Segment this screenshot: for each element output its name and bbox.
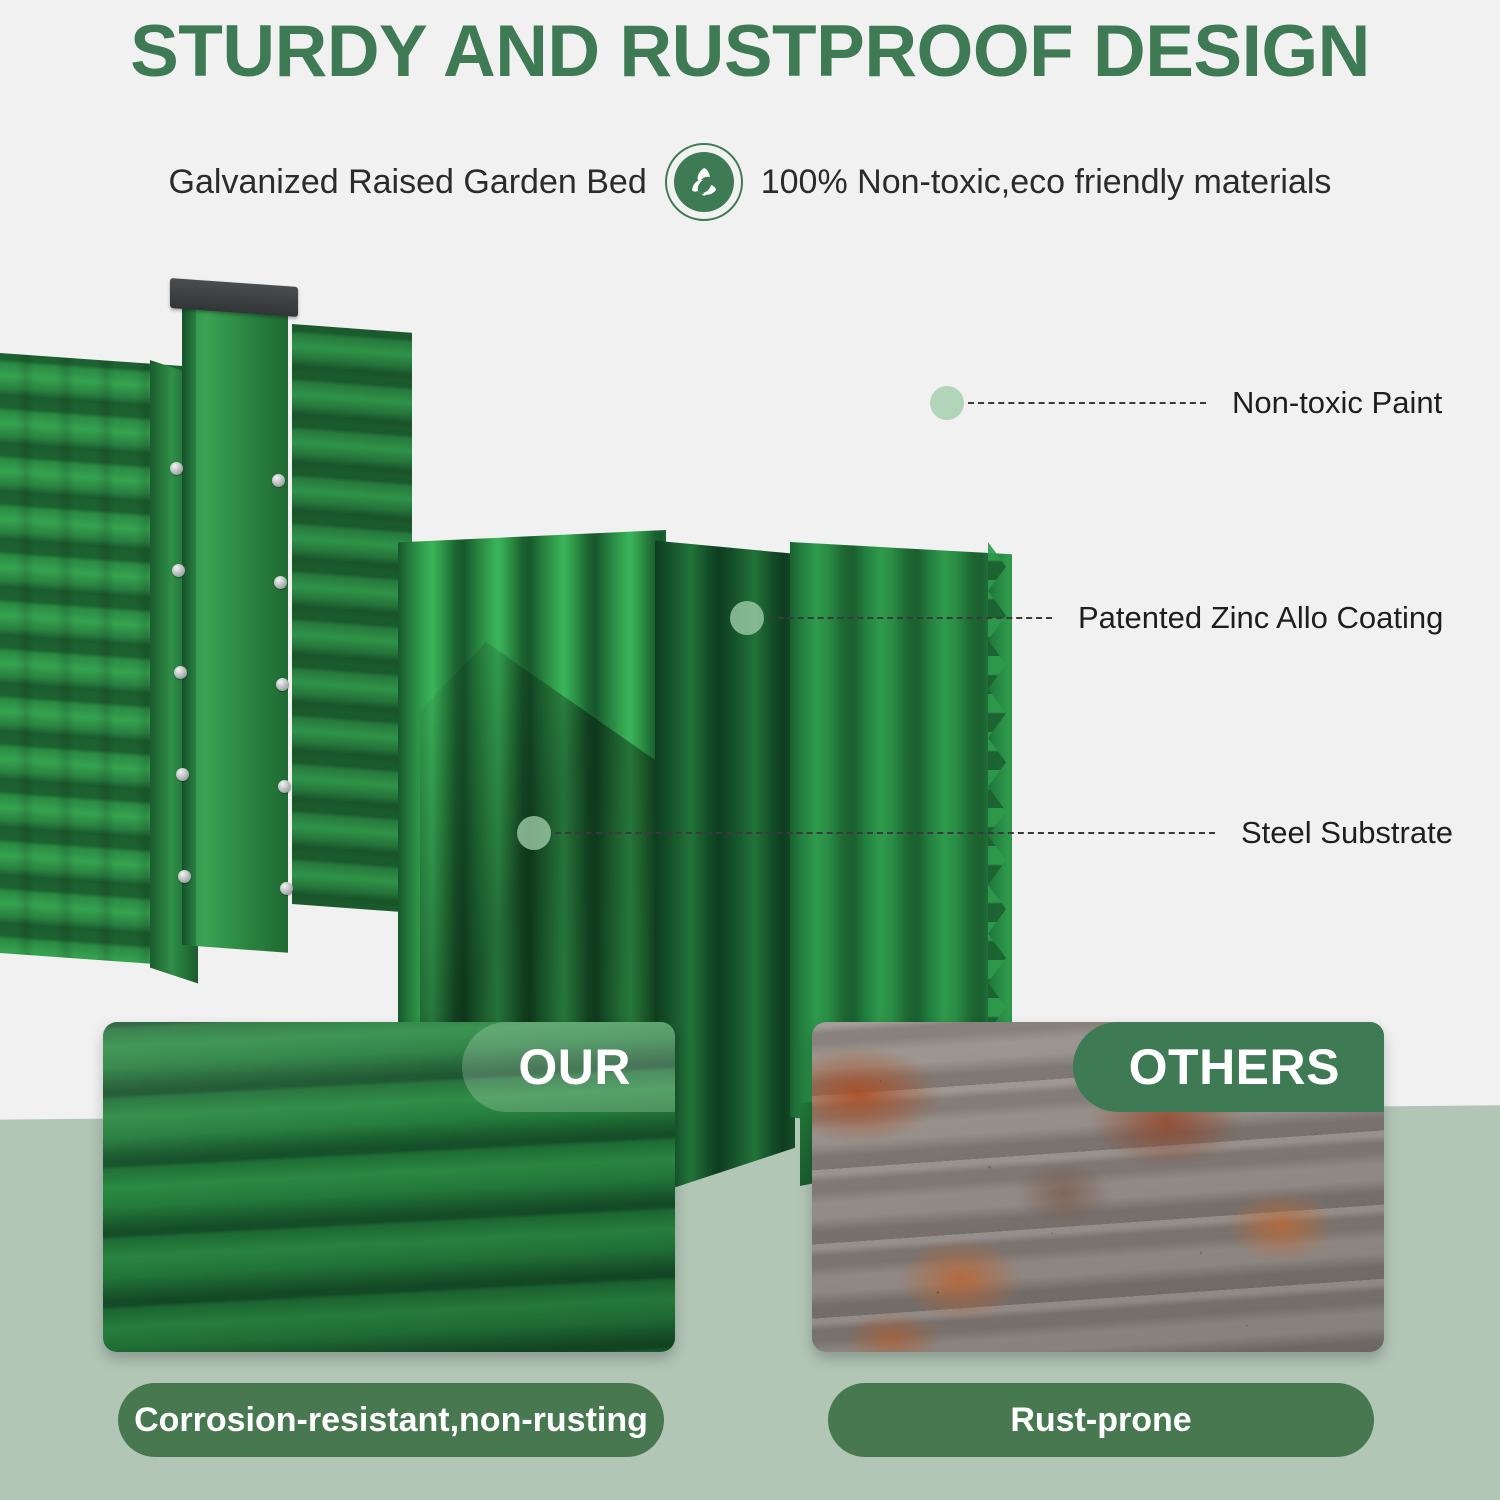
badge-others: OTHERS [1073, 1022, 1384, 1112]
screw [278, 780, 291, 793]
callout-leader-line [555, 832, 1215, 834]
callout-non-toxic-paint: Non-toxic Paint [930, 385, 1442, 421]
garden-bed-corner-post [182, 300, 288, 953]
subtitle-right: 100% Non-toxic,eco friendly materials [761, 159, 1332, 205]
callout-leader-line [768, 617, 1052, 619]
callout-dot-icon [930, 386, 964, 420]
comparison-panel-others: OTHERS [812, 1022, 1384, 1352]
callout-label: Patented Zinc Allo Coating [1078, 600, 1443, 636]
subtitle-left: Galvanized Raised Garden Bed [169, 159, 647, 205]
screw [176, 768, 189, 781]
badge-our: OUR [462, 1022, 675, 1112]
screw [174, 666, 187, 679]
screw [170, 462, 183, 475]
screw [272, 474, 285, 487]
garden-bed-side-panel [292, 324, 412, 913]
comparison-panel-our: OUR [103, 1022, 675, 1352]
callout-zinc-alloy-coating: Patented Zinc Allo Coating [730, 600, 1443, 636]
screw [280, 882, 293, 895]
callout-dot-icon [730, 601, 764, 635]
infographic-canvas: STURDY AND RUSTPROOF DESIGN Galvanized R… [0, 0, 1500, 1500]
callout-leader-line [968, 402, 1206, 404]
garner-bed-corner-post-edge [182, 300, 196, 946]
caption-pill-our: Corrosion-resistant,non-rusting [118, 1383, 664, 1457]
callout-label: Non-toxic Paint [1232, 385, 1442, 421]
recycle-leaves-icon [665, 143, 743, 221]
callout-dot-icon [517, 816, 551, 850]
screw [172, 564, 185, 577]
subtitle-row: Galvanized Raised Garden Bed 100% Non-to… [0, 143, 1500, 221]
screw [178, 870, 191, 883]
recycle-leaves-icon-inner [674, 152, 734, 212]
caption-pill-others: Rust-prone [828, 1383, 1374, 1457]
callout-label: Steel Substrate [1241, 815, 1453, 851]
page-title: STURDY AND RUSTPROOF DESIGN [0, 4, 1500, 100]
screw [276, 678, 289, 691]
screw [274, 576, 287, 589]
callout-steel-substrate: Steel Substrate [517, 815, 1453, 851]
